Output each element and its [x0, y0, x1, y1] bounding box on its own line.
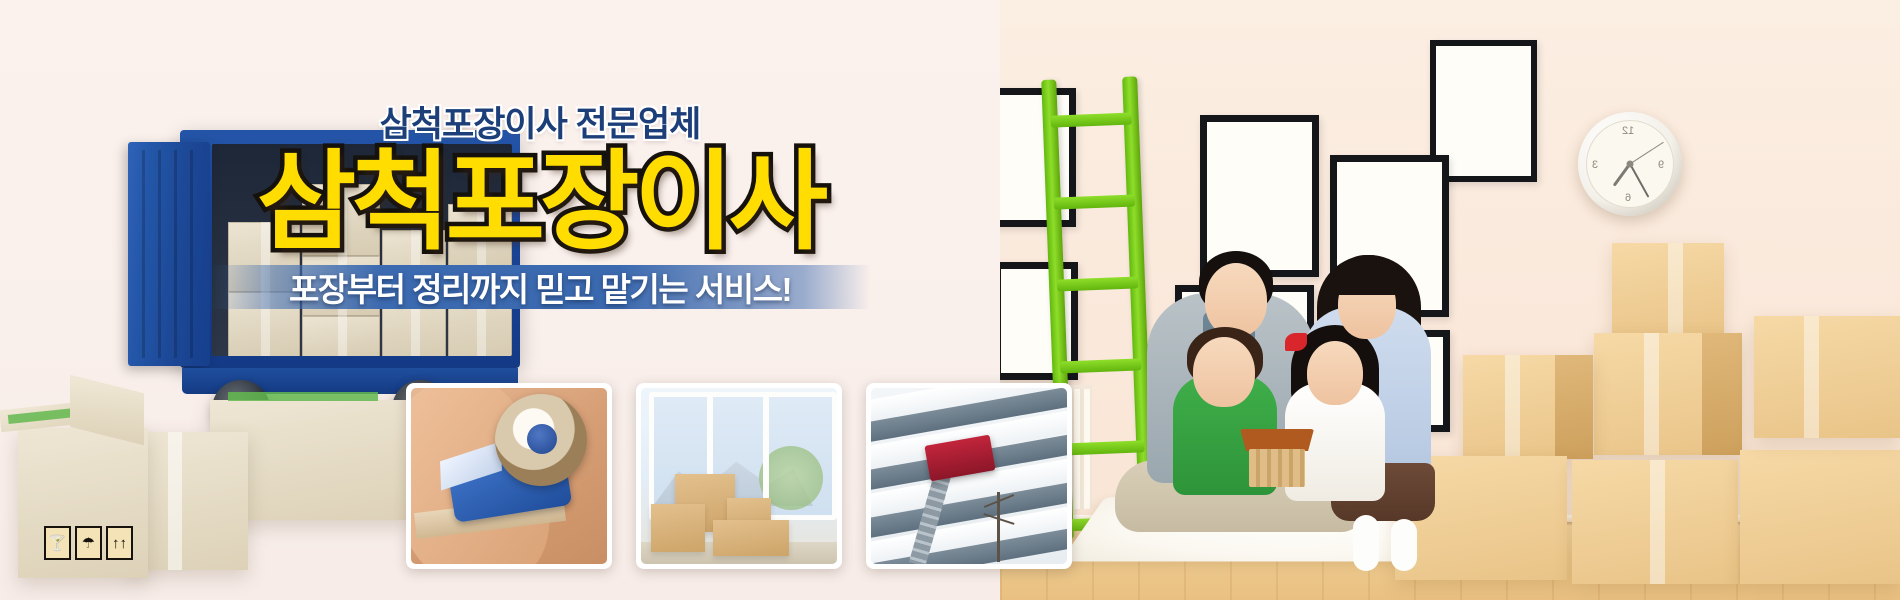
- thumbnail-image-boxes-window: [641, 388, 837, 564]
- banner-subtitle: 삼척포장이사 전문업체: [0, 96, 1080, 147]
- girl-sock: [1391, 519, 1417, 571]
- clock-number-3: 3: [1592, 159, 1598, 171]
- house-roof: [1240, 429, 1314, 451]
- girl-sock: [1353, 515, 1379, 571]
- boy-head: [1193, 337, 1255, 407]
- moving-box: [1612, 243, 1724, 335]
- thumbnail-ladder-lift-truck[interactable]: [866, 383, 1072, 569]
- clock-minute-hand: [1629, 163, 1649, 197]
- box-side: [1555, 355, 1593, 459]
- girl-head: [1307, 341, 1363, 405]
- this-side-up-icon: ↑↑: [106, 526, 133, 560]
- thumbnail-packing-tape-dispenser[interactable]: [406, 383, 612, 569]
- clock-number-12: 12: [1622, 125, 1634, 137]
- moving-company-banner: 12 3 6 9: [0, 0, 1900, 600]
- fragile-glass-icon: 🍸: [44, 526, 71, 560]
- packed-box: [713, 520, 789, 556]
- box-tape: [1804, 316, 1819, 438]
- moving-box: [1754, 316, 1900, 438]
- moving-box: [1740, 450, 1900, 584]
- box-tape: [1650, 460, 1665, 584]
- thumbnail-strip: [406, 383, 1072, 569]
- box-tape: [1668, 243, 1683, 335]
- tape-roll: [495, 394, 587, 486]
- box-front: [1740, 450, 1900, 584]
- bare-tree: [997, 492, 1000, 562]
- box-handling-stickers: 🍸 ☂ ↑↑: [44, 526, 133, 560]
- window-mullion: [763, 392, 769, 502]
- banner-tagline-wrapper: 포장부터 정리까지 믿고 맡기는 서비스!: [0, 261, 1080, 313]
- packed-box: [651, 504, 705, 552]
- moving-box: [1572, 460, 1738, 584]
- box-front: [1754, 316, 1900, 438]
- box-tape: [1505, 355, 1520, 459]
- banner-main-title: 삼척포장이사: [0, 147, 1080, 257]
- clock-number-9: 9: [1658, 159, 1664, 171]
- thumbnail-image-ladder-lift: [871, 388, 1067, 564]
- clock-center-pin: [1627, 161, 1634, 168]
- box-green-stripe: [228, 392, 378, 401]
- cargo-box: [302, 316, 380, 356]
- box-tape: [1644, 333, 1659, 455]
- girl-hair-bow: [1285, 333, 1307, 351]
- box-side: [1702, 333, 1742, 455]
- clock-number-6: 6: [1625, 192, 1631, 204]
- house-walls: [1249, 449, 1305, 487]
- thumbnail-boxes-by-window[interactable]: [636, 383, 842, 569]
- box-tape: [168, 432, 182, 570]
- wall-clock-icon: 12 3 6 9: [1578, 112, 1682, 216]
- family-photo-group: [1095, 215, 1455, 545]
- banner-tagline: 포장부터 정리까지 믿고 맡기는 서비스!: [289, 263, 791, 311]
- wooden-house-model-icon: [1245, 429, 1309, 487]
- thumbnail-image-packing-tape: [411, 388, 607, 564]
- banner-text-block: 삼척포장이사 전문업체 삼척포장이사 포장부터 정리까지 믿고 맡기는 서비스!: [0, 96, 1080, 313]
- moving-box: [1463, 355, 1593, 459]
- keep-dry-umbrella-icon: ☂: [75, 526, 102, 560]
- father-head: [1205, 263, 1267, 337]
- moving-box: [1594, 333, 1742, 455]
- moving-box-open: 🍸 ☂ ↑↑: [18, 428, 148, 578]
